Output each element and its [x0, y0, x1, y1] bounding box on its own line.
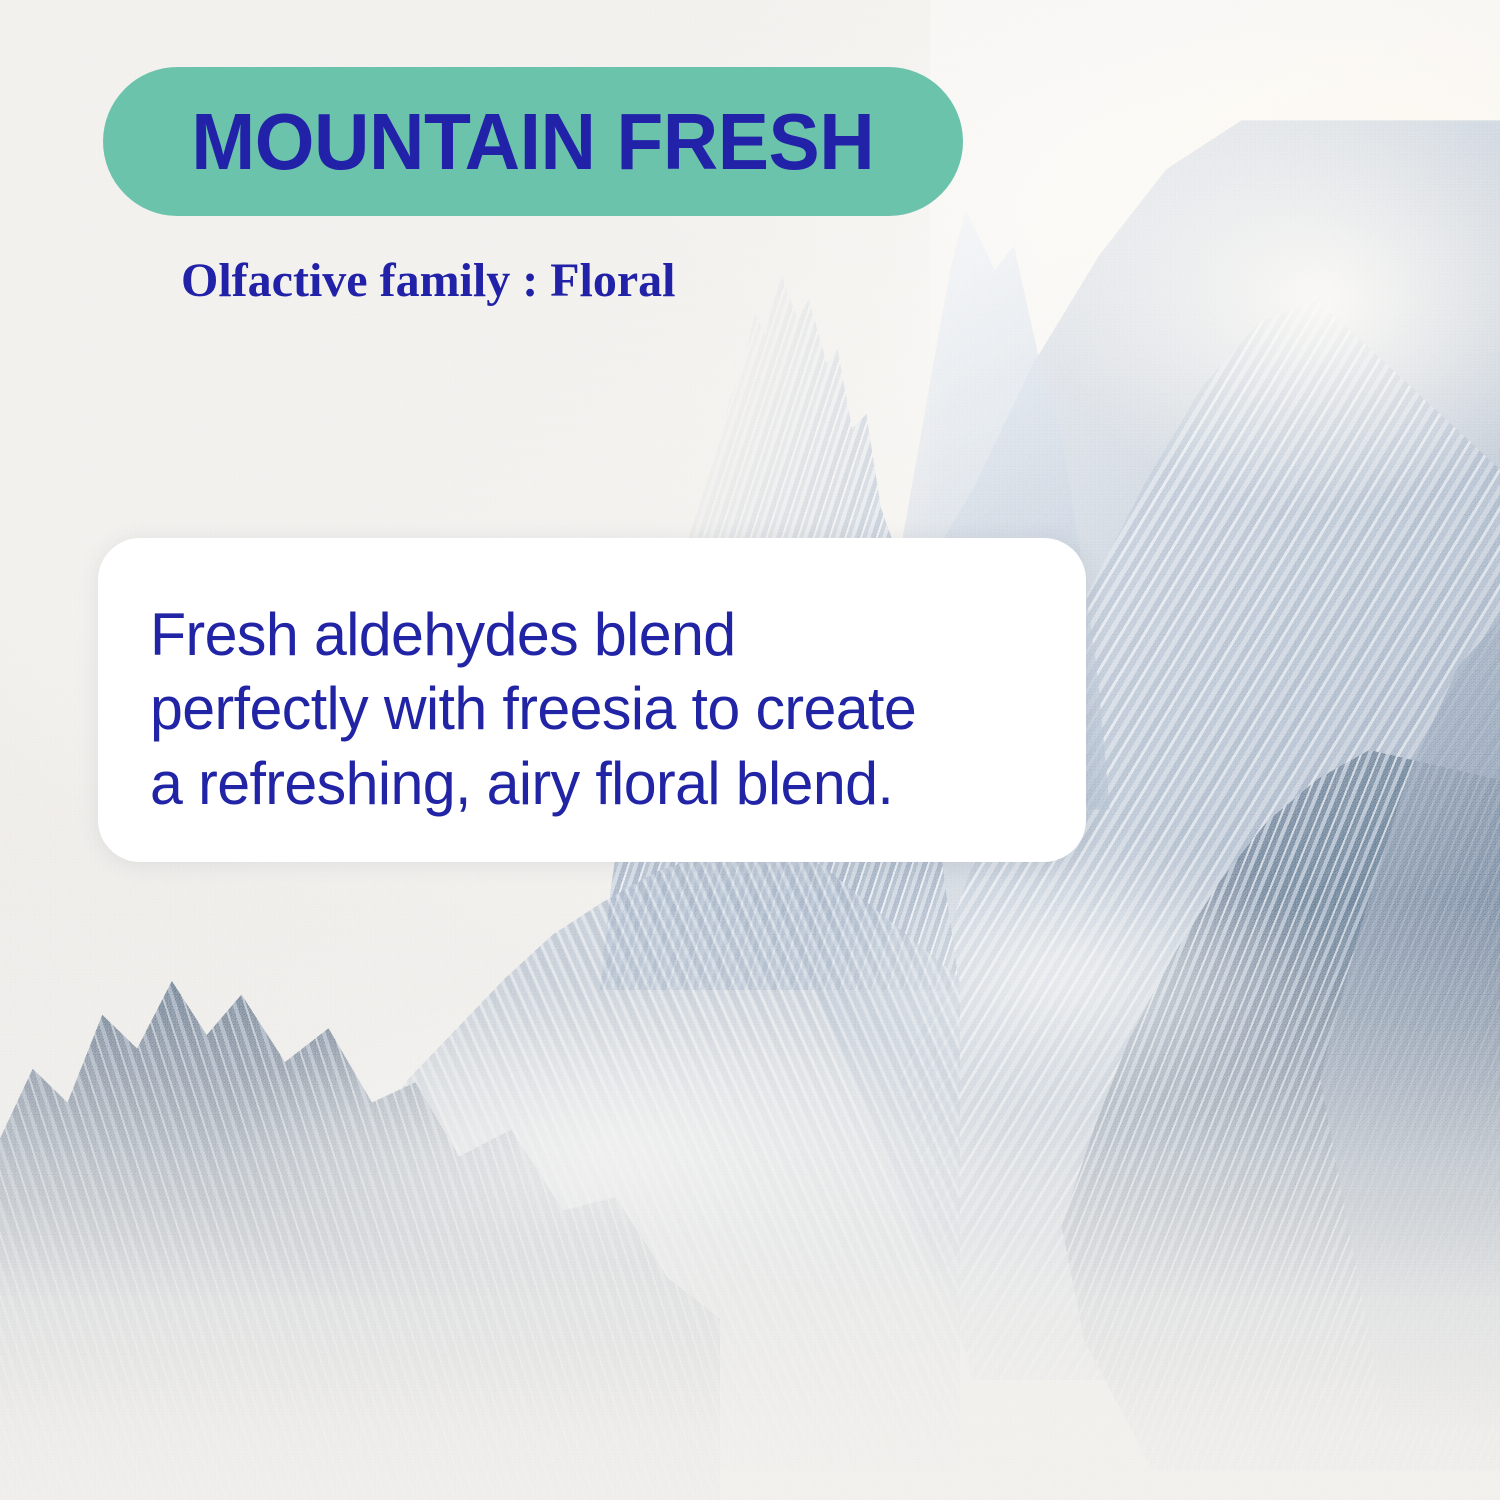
description-text: Fresh aldehydes blend perfectly with fre… [150, 598, 1017, 821]
title-badge-label: MOUNTAIN FRESH [191, 102, 874, 182]
product-scent-card: MOUNTAIN FRESH Olfactive family : Floral… [0, 0, 1500, 1500]
description-card: Fresh aldehydes blend perfectly with fre… [98, 538, 1086, 862]
title-badge: MOUNTAIN FRESH [103, 67, 963, 216]
olfactive-family-subtitle: Olfactive family : Floral [181, 255, 676, 308]
